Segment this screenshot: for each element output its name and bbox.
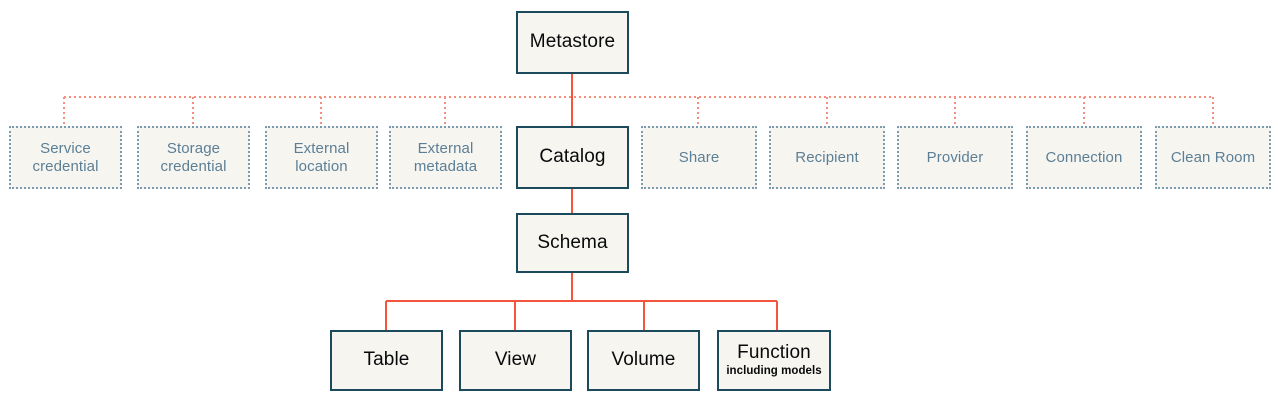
node-label-volume: Volume [612, 349, 676, 371]
edge-group-schema-to-children [386, 273, 777, 330]
node-label-storage-credential: Storage credential [160, 140, 226, 175]
node-function[interactable]: Functionincluding models [717, 330, 831, 391]
node-connection[interactable]: Connection [1026, 126, 1142, 189]
node-label-service-credential: Service credential [32, 140, 98, 175]
node-external-metadata[interactable]: External metadata [389, 126, 502, 189]
node-label-table: Table [364, 349, 410, 371]
node-label-external-location: External location [294, 140, 350, 175]
node-schema[interactable]: Schema [516, 213, 629, 273]
node-recipient[interactable]: Recipient [769, 126, 885, 189]
node-label-connection: Connection [1046, 149, 1123, 167]
node-label-external-metadata: External metadata [414, 140, 477, 175]
unity-catalog-object-model-diagram: MetastoreService credentialStorage crede… [0, 0, 1278, 405]
node-label-share: Share [679, 149, 720, 167]
node-clean-room[interactable]: Clean Room [1155, 126, 1271, 189]
node-sublabel-function: including models [726, 365, 821, 379]
node-catalog[interactable]: Catalog [516, 126, 629, 189]
node-share[interactable]: Share [641, 126, 757, 189]
node-label-view: View [495, 349, 536, 371]
node-label-function: Function [737, 342, 811, 364]
node-view[interactable]: View [459, 330, 572, 391]
node-label-recipient: Recipient [795, 149, 858, 167]
node-storage-credential[interactable]: Storage credential [137, 126, 250, 189]
node-metastore[interactable]: Metastore [516, 11, 629, 74]
node-table[interactable]: Table [330, 330, 443, 391]
node-external-location[interactable]: External location [265, 126, 378, 189]
node-provider[interactable]: Provider [897, 126, 1013, 189]
node-label-metastore: Metastore [530, 31, 615, 53]
node-label-catalog: Catalog [539, 146, 605, 168]
node-label-clean-room: Clean Room [1171, 149, 1255, 167]
node-label-schema: Schema [537, 232, 607, 254]
node-service-credential[interactable]: Service credential [9, 126, 122, 189]
node-label-provider: Provider [927, 149, 984, 167]
edge-group-metastore-to-row1 [64, 74, 1213, 126]
node-volume[interactable]: Volume [587, 330, 700, 391]
